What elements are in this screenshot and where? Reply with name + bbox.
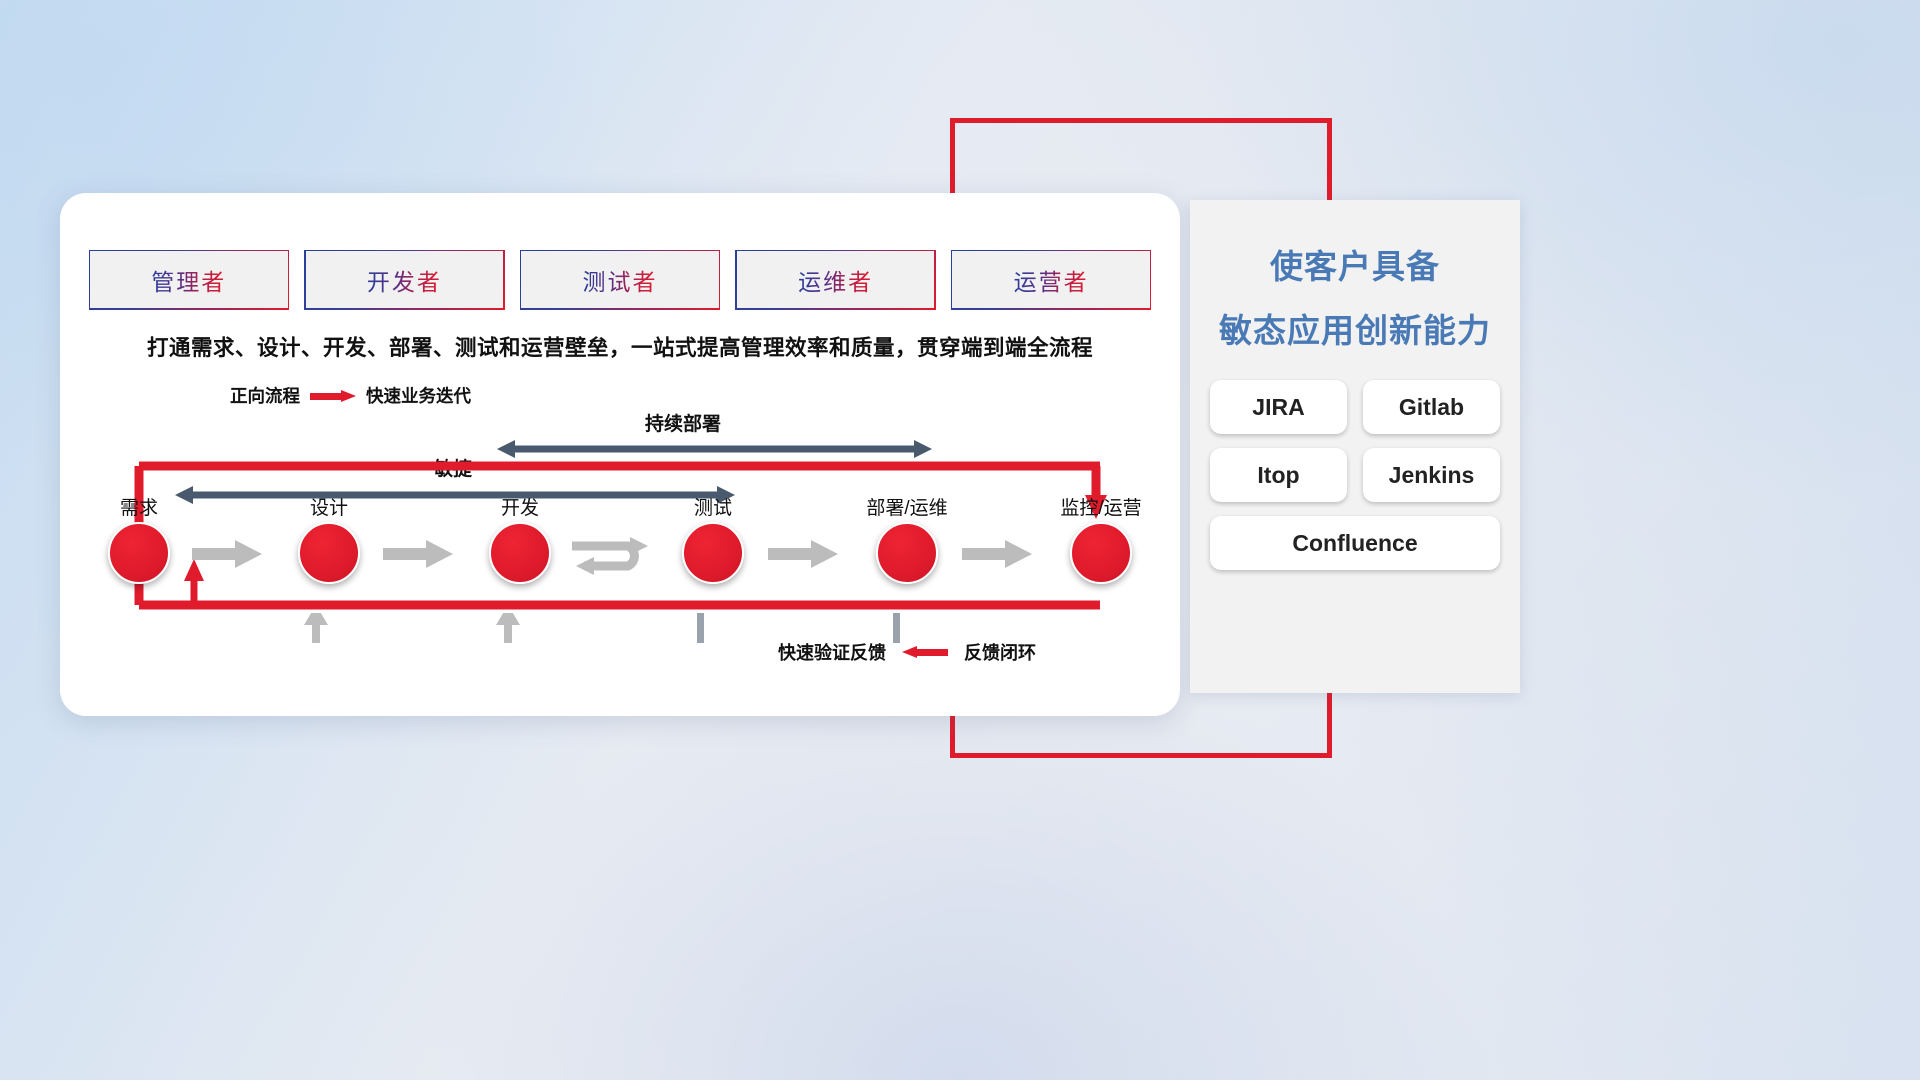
gray-arrow-icon-4 xyxy=(962,539,1032,569)
feedback-annotation: 快速验证反馈 反馈闭环 xyxy=(778,639,1036,665)
node-label: 部署/运维 xyxy=(866,493,947,520)
tool-label: Itop xyxy=(1257,462,1299,489)
gray-arrow-icon-1 xyxy=(192,539,262,569)
node-dot xyxy=(489,522,551,584)
role-label: 运维者 xyxy=(798,263,873,297)
node-dot xyxy=(682,522,744,584)
node-label: 需求 xyxy=(120,493,158,520)
tool-label: Jenkins xyxy=(1389,462,1475,489)
tool-card-gitlab[interactable]: Gitlab xyxy=(1363,380,1500,434)
role-box-developer[interactable]: 开发者 xyxy=(306,251,504,308)
role-box-operations[interactable]: 运营者 xyxy=(952,251,1150,308)
gray-arrow-icon-2 xyxy=(383,539,453,569)
tool-label: Gitlab xyxy=(1399,394,1464,421)
feedback-right-label: 反馈闭环 xyxy=(964,639,1036,665)
role-label: 测试者 xyxy=(582,263,657,297)
node-dot xyxy=(876,522,938,584)
main-card: 管理者 开发者 测试者 运维者 运营者 打通需求、设计、开发、部署、测试和运营壁… xyxy=(60,193,1180,716)
panel-heading-line2: 敏态应用创新能力 xyxy=(1190,304,1520,352)
description-text: 打通需求、设计、开发、部署、测试和运营壁垒，一站式提高管理效率和质量，贯穿端到端… xyxy=(60,331,1180,362)
tool-card-grid: JIRA Gitlab Itop Jenkins Confluence xyxy=(1190,352,1520,570)
node-label: 设计 xyxy=(310,493,348,520)
panel-heading-line1: 使客户具备 xyxy=(1190,240,1520,288)
node-dot xyxy=(298,522,360,584)
cycle-loop-arrow-icon xyxy=(568,533,658,579)
red-arrow-right-icon xyxy=(310,390,356,402)
tools-panel: 使客户具备 敏态应用创新能力 JIRA Gitlab Itop Jenkins … xyxy=(1190,200,1520,693)
tool-card-jenkins[interactable]: Jenkins xyxy=(1363,448,1500,502)
node-label: 测试 xyxy=(694,493,732,520)
role-box-manager[interactable]: 管理者 xyxy=(90,251,288,308)
node-label: 开发 xyxy=(501,493,539,520)
red-arrow-left-icon xyxy=(902,646,948,658)
tool-card-itop[interactable]: Itop xyxy=(1210,448,1347,502)
pipeline: 需求 设计 开发 测试 xyxy=(60,493,1180,623)
feedback-left-label: 快速验证反馈 xyxy=(778,639,886,665)
tool-card-jira[interactable]: JIRA xyxy=(1210,380,1347,434)
gray-arrow-icon-3 xyxy=(768,539,838,569)
role-box-row: 管理者 开发者 测试者 运维者 运营者 xyxy=(90,251,1150,308)
role-box-ops[interactable]: 运维者 xyxy=(737,251,935,308)
tool-card-confluence[interactable]: Confluence xyxy=(1210,516,1500,570)
continuous-deploy-label: 持续部署 xyxy=(645,409,721,436)
forward-flow-left-label: 正向流程 xyxy=(230,383,300,408)
node-dot xyxy=(108,522,170,584)
tool-label: JIRA xyxy=(1252,394,1304,421)
tool-label: Confluence xyxy=(1292,530,1417,557)
role-label: 开发者 xyxy=(367,263,442,297)
node-label: 监控/运营 xyxy=(1060,493,1141,520)
continuous-deploy-double-arrow-icon xyxy=(497,439,932,459)
forward-flow-annotation: 正向流程 快速业务迭代 xyxy=(230,383,471,408)
role-box-tester[interactable]: 测试者 xyxy=(521,251,719,308)
role-label: 管理者 xyxy=(151,263,226,297)
role-label: 运营者 xyxy=(1014,263,1089,297)
forward-flow-right-label: 快速业务迭代 xyxy=(366,383,471,408)
node-dot xyxy=(1070,522,1132,584)
